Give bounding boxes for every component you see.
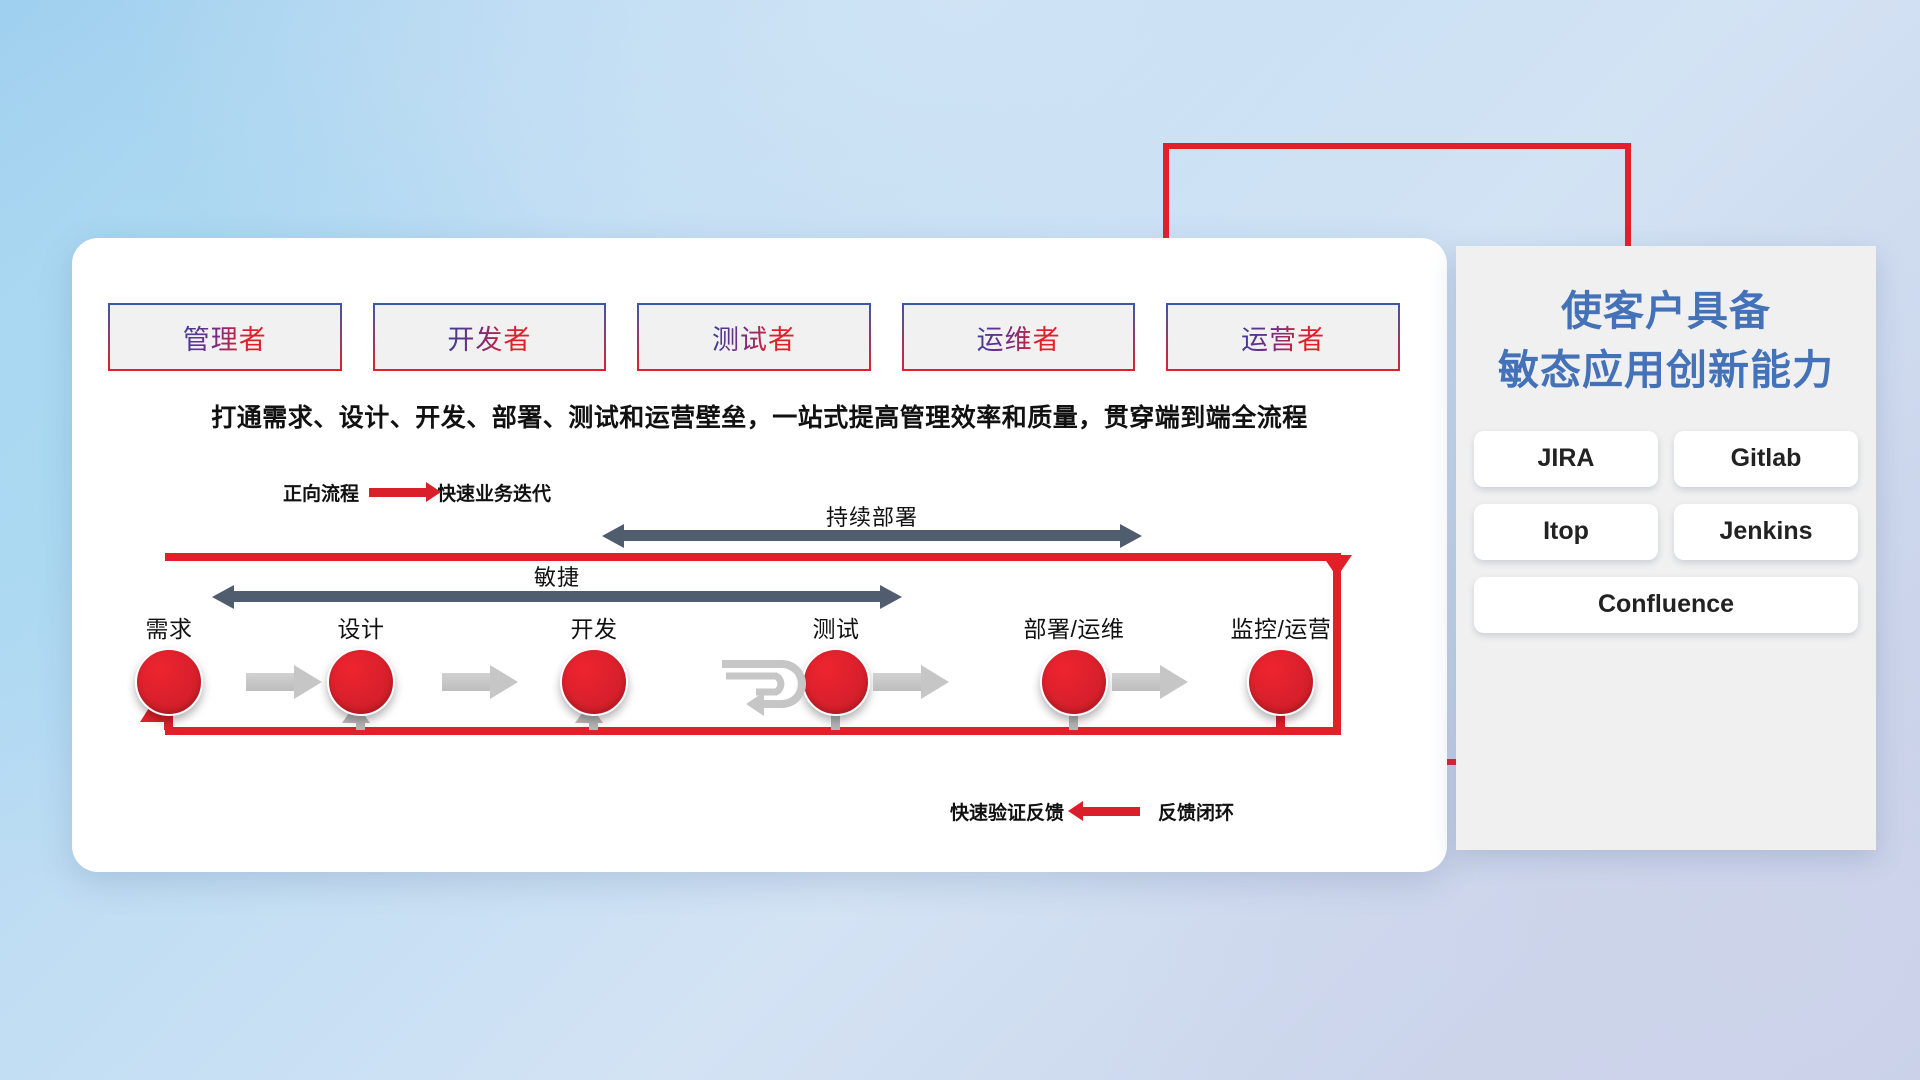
tools-heading-line-1: 使客户具备 bbox=[1456, 282, 1876, 341]
tool-chip-jenkins[interactable]: Jenkins bbox=[1674, 504, 1858, 560]
tools-heading-line-2: 敏态应用创新能力 bbox=[1456, 341, 1876, 400]
uturn-loop-arrow-icon bbox=[716, 658, 820, 720]
stage-label: 设计 bbox=[286, 610, 436, 644]
stage-dot-development bbox=[560, 648, 628, 716]
tool-chip-jira[interactable]: JIRA bbox=[1474, 431, 1658, 487]
tools-grid: JIRA Gitlab Itop Jenkins Confluence bbox=[1474, 431, 1858, 633]
flow-arrow-design-to-development-icon bbox=[442, 665, 518, 699]
stage-label: 监控/运营 bbox=[1206, 610, 1356, 644]
tool-chip-confluence[interactable]: Confluence bbox=[1474, 577, 1858, 633]
stage-dot-requirements bbox=[135, 648, 203, 716]
tool-chip-itop[interactable]: Itop bbox=[1474, 504, 1658, 560]
stage-label: 测试 bbox=[761, 610, 911, 644]
stage-monitoring-operations[interactable]: 监控/运营 bbox=[1206, 610, 1356, 716]
stage-requirements[interactable]: 需求 bbox=[94, 610, 244, 716]
tools-panel: 使客户具备 敏态应用创新能力 JIRA Gitlab Itop Jenkins … bbox=[1456, 246, 1876, 850]
stage-label: 需求 bbox=[94, 610, 244, 644]
stage-development[interactable]: 开发 bbox=[519, 610, 669, 716]
stage-dot-monitoring-operations bbox=[1247, 648, 1315, 716]
stage-deployment-ops[interactable]: 部署/运维 bbox=[999, 610, 1149, 716]
flow-arrow-testing-to-deployment-icon bbox=[873, 665, 949, 699]
stage-design[interactable]: 设计 bbox=[286, 610, 436, 716]
flow-arrow-requirements-to-design-icon bbox=[246, 665, 322, 699]
stage-dot-design bbox=[327, 648, 395, 716]
stage-dot-deployment-ops bbox=[1040, 648, 1108, 716]
tool-chip-gitlab[interactable]: Gitlab bbox=[1674, 431, 1858, 487]
tools-panel-heading: 使客户具备 敏态应用创新能力 bbox=[1456, 282, 1876, 401]
stage-label: 部署/运维 bbox=[999, 610, 1149, 644]
flow-arrow-deployment-to-monitoring-icon bbox=[1112, 665, 1188, 699]
stage-label: 开发 bbox=[519, 610, 669, 644]
